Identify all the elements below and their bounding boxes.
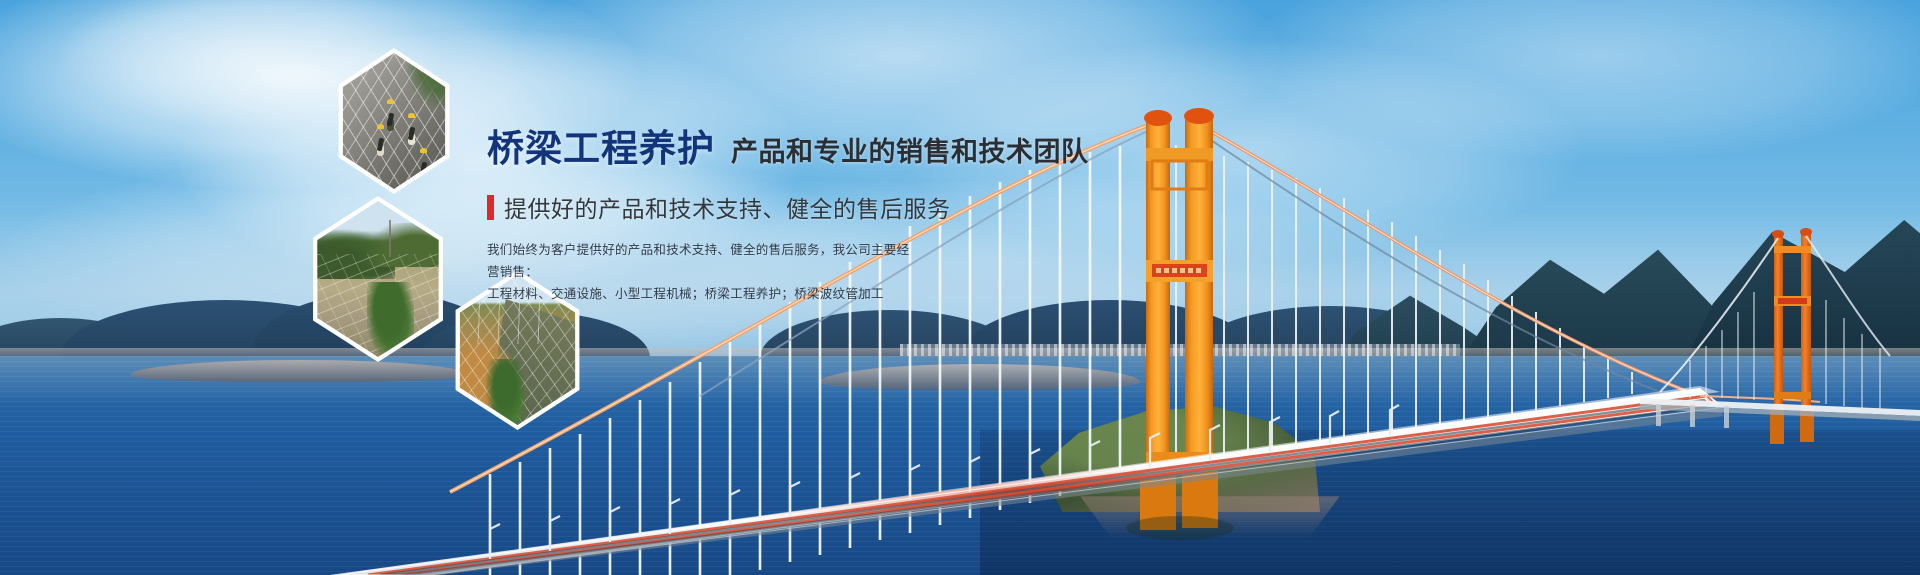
- hardhat-icon: [408, 113, 415, 118]
- utility-pole: [389, 220, 391, 257]
- hero-banner: 桥梁工程养护 产品和专业的销售和技术团队 提供好的产品和技术支持、健全的售后服务…: [0, 0, 1920, 575]
- banner-copy: 桥梁工程养护 产品和专业的销售和技术团队 提供好的产品和技术支持、健全的售后服务…: [487, 118, 1187, 306]
- subheading-text: 提供好的产品和技术支持、健全的售后服务: [504, 190, 951, 224]
- hardhat-icon: [420, 148, 427, 153]
- island-shoreline: [1080, 496, 1340, 538]
- description-line-1: 我们始终为客户提供好的产品和技术支持、健全的售后服务，我公司主要经营销售：: [487, 240, 917, 284]
- description-block: 我们始终为客户提供好的产品和技术支持、健全的售后服务，我公司主要经营销售： 工程…: [487, 240, 917, 306]
- headline-row: 桥梁工程养护 产品和专业的销售和技术团队: [487, 118, 1187, 172]
- description-line-2: 工程材料、交通设施、小型工程机械；桥梁工程养护；桥梁波纹管加工: [487, 284, 917, 306]
- subheading-row: 提供好的产品和技术支持、健全的售后服务: [487, 190, 1187, 224]
- accent-bar-icon: [487, 195, 494, 220]
- hardhat-icon: [377, 124, 384, 129]
- hardhat-icon: [387, 99, 394, 104]
- headline-primary: 桥梁工程养护: [487, 118, 715, 172]
- headline-secondary: 产品和专业的销售和技术团队: [731, 130, 1089, 169]
